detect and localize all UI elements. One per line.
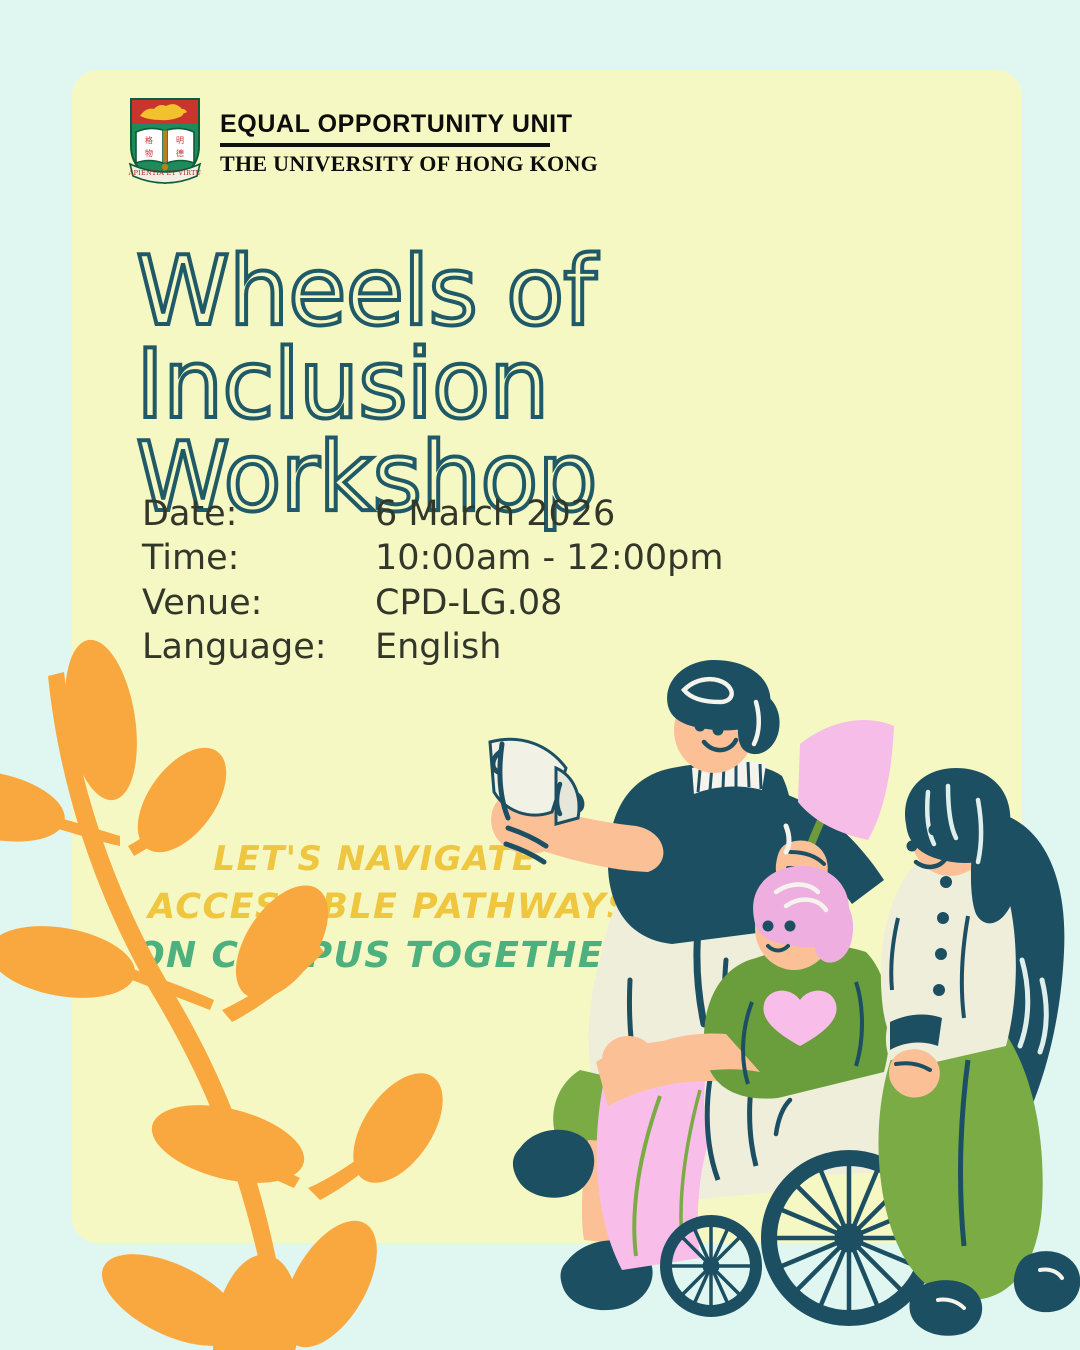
institution-name: THE UNIVERSITY OF HONG KONG (220, 152, 598, 175)
svg-text:明: 明 (176, 136, 184, 145)
lockup-divider (220, 143, 550, 147)
svg-text:物: 物 (145, 148, 153, 158)
detail-row-language: Language: English (142, 625, 723, 669)
detail-value: 10:00am - 12:00pm (375, 536, 723, 580)
detail-label: Language: (142, 625, 375, 669)
detail-row-venue: Venue: CPD-LG.08 (142, 581, 723, 625)
svg-text:德: 德 (176, 148, 184, 158)
detail-row-date: Date: 6 March 2026 (142, 492, 723, 536)
detail-row-time: Time: 10:00am - 12:00pm (142, 536, 723, 580)
page-title: Wheels of Inclusion Workshop (136, 246, 1016, 525)
tagline-line-3: ON CAMPUS TOGETHER! (134, 931, 610, 981)
detail-value: CPD-LG.08 (375, 581, 723, 625)
detail-value: 6 March 2026 (375, 492, 723, 536)
svg-text:格: 格 (145, 135, 153, 145)
unit-name: EQUAL OPPORTUNITY UNIT (220, 111, 598, 137)
detail-value: English (375, 625, 723, 669)
tagline-line-1: LET'S NAVIGATE (140, 836, 610, 883)
brand-lockup: EQUAL OPPORTUNITY UNIT THE UNIVERSITY OF… (220, 107, 598, 174)
detail-label: Time: (142, 536, 375, 580)
detail-label: Venue: (142, 581, 375, 625)
svg-text:SAPIENTIA ET VIRTUS: SAPIENTIA ET VIRTUS (128, 169, 202, 177)
hku-crest-icon: 格物 明德 SAPIENTIA ET VIRTUS (128, 96, 202, 186)
detail-label: Date: (142, 492, 375, 536)
tagline-line-2: ACCESSIBLE PATHWAYS (148, 883, 610, 931)
event-details: Date: 6 March 2026 Time: 10:00am - 12:00… (142, 492, 723, 670)
tagline: LET'S NAVIGATE ACCESSIBLE PATHWAYS ON CA… (140, 836, 610, 981)
brand-header: 格物 明德 SAPIENTIA ET VIRTUS EQUAL OPPORTUN… (128, 96, 598, 186)
poster-canvas: 格物 明德 SAPIENTIA ET VIRTUS EQUAL OPPORTUN… (0, 0, 1080, 1350)
